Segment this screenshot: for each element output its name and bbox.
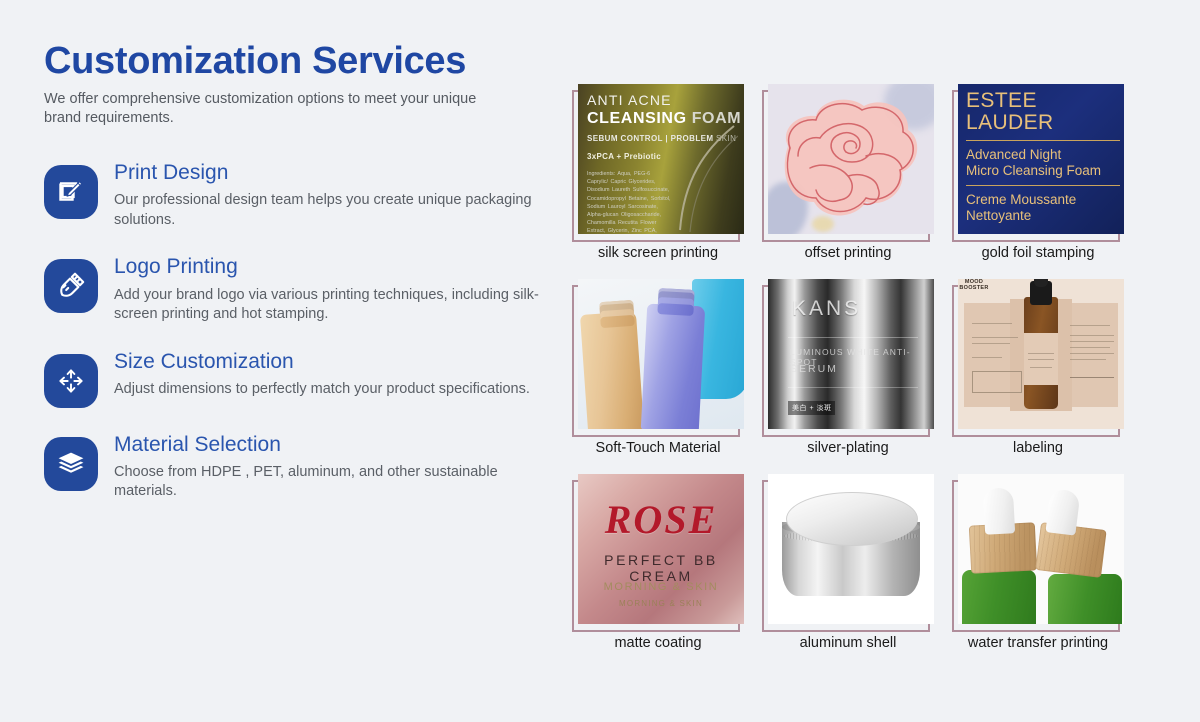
pen-ruler-icon <box>44 259 98 313</box>
thumbnail-wrapper: MOOD BOOSTER <box>952 279 1124 432</box>
thumbnail-wrapper <box>762 84 934 237</box>
label-rule-icon <box>972 343 1010 344</box>
gallery-item[interactable]: offset printing <box>755 84 941 279</box>
thumbnail-image-aluminum-shell[interactable] <box>768 474 934 624</box>
product-art-kans-metallic-bottle: KANS LUMINOUS WHITE ANTI-SPOT SERUM 美白 +… <box>768 279 934 429</box>
gallery-item[interactable]: ESTEE LAUDER Advanced Night Micro Cleans… <box>945 84 1131 279</box>
product-art-green-dropper-bottles <box>958 474 1124 624</box>
product-subtitle-2: SERUM <box>790 363 838 375</box>
brand-line-1: ESTEE <box>966 90 1120 112</box>
product-tagline-1: MORNING & SKIN <box>578 581 744 593</box>
divider-rule <box>788 337 918 338</box>
label-rule-icon <box>1070 377 1114 378</box>
label-rule-icon <box>972 357 1002 358</box>
gallery-caption: labeling <box>945 440 1131 457</box>
gallery-caption: aluminum shell <box>755 635 941 652</box>
product-art-cleansing-foam-tube: ANTI ACNE CLEANSING FOAM SEBUM CONTROL |… <box>578 84 744 234</box>
bottle-purple-icon <box>641 304 706 429</box>
divider-rule <box>966 185 1120 186</box>
bottle-green-right-icon <box>1048 574 1122 624</box>
page-subtitle: We offer comprehensive customization opt… <box>44 90 494 129</box>
customization-services-page: Customization Services We offer comprehe… <box>0 0 1200 722</box>
feature-description: Add your brand logo via various printing… <box>114 286 544 325</box>
feature-list: Print Design Our professional design tea… <box>44 159 544 502</box>
product-art-estee-lauder-carton: ESTEE LAUDER Advanced Night Micro Cleans… <box>958 84 1124 234</box>
bottle-amber-icon <box>580 311 644 429</box>
gallery-item[interactable]: MOOD BOOSTER labeling <box>945 279 1131 474</box>
label-rule-icon <box>972 323 1012 324</box>
gallery-item[interactable]: aluminum shell <box>755 474 941 669</box>
feature-item-size-customization[interactable]: Size Customization Adjust dimensions to … <box>44 348 544 408</box>
label-rule-icon <box>1070 359 1106 360</box>
gallery-caption: matte coating <box>565 635 751 652</box>
thumbnail-image-gold-foil-stamping[interactable]: ESTEE LAUDER Advanced Night Micro Cleans… <box>958 84 1124 234</box>
thumbnail-wrapper: ANTI ACNE CLEANSING FOAM SEBUM CONTROL |… <box>572 84 744 237</box>
technique-gallery-grid: ANTI ACNE CLEANSING FOAM SEBUM CONTROL |… <box>565 84 1131 669</box>
product-art-frosted-bottles <box>578 279 744 429</box>
label-rule-icon <box>1070 335 1114 336</box>
feature-title: Logo Printing <box>114 254 544 279</box>
pencil-square-icon <box>44 165 98 219</box>
feature-item-print-design[interactable]: Print Design Our professional design tea… <box>44 159 544 230</box>
thumbnail-wrapper <box>572 279 744 432</box>
thumbnail-image-matte-coating[interactable]: ROSE PERFECT BB CREAM MORNING & SKIN MOR… <box>578 474 744 624</box>
tube-highlight-curve-icon <box>664 124 738 232</box>
gallery-item[interactable]: Soft-Touch Material <box>565 279 751 474</box>
left-content-column: Customization Services We offer comprehe… <box>44 42 544 525</box>
feature-text-block: Print Design Our professional design tea… <box>114 159 544 230</box>
brand-name: KANS <box>792 297 861 321</box>
thumbnail-image-offset-printing[interactable] <box>768 84 934 234</box>
product-french-line-1: Creme Moussante <box>966 192 1120 208</box>
gallery-item[interactable]: ROSE PERFECT BB CREAM MORNING & SKIN MOR… <box>565 474 751 669</box>
label-box-icon <box>972 371 1022 393</box>
page-title: Customization Services <box>44 42 544 82</box>
stacked-layers-icon <box>44 437 98 491</box>
dropper-bulb-right-icon <box>1045 488 1080 535</box>
product-art-aluminum-tin-jar <box>768 474 934 624</box>
label-rule-icon <box>1028 353 1054 354</box>
product-subtitle: PERFECT BB CREAM <box>578 552 744 584</box>
thumbnail-image-silk-screen-printing[interactable]: ANTI ACNE CLEANSING FOAM SEBUM CONTROL |… <box>578 84 744 234</box>
brand-line-2: LAUDER <box>966 112 1120 134</box>
feature-description: Adjust dimensions to perfectly match you… <box>114 380 544 400</box>
label-rule-icon <box>1070 341 1114 342</box>
gallery-caption: silk screen printing <box>565 245 751 262</box>
four-arrows-resize-icon <box>44 354 98 408</box>
product-art-rose-line-illustration <box>768 84 934 234</box>
bottle-green-left-icon <box>962 570 1036 624</box>
product-art-rose-bb-cream: ROSE PERFECT BB CREAM MORNING & SKIN MOR… <box>578 474 744 624</box>
label-rule-icon <box>1070 353 1114 354</box>
product-subtitle-line-1: Advanced Night <box>966 147 1120 163</box>
thumbnail-wrapper: ROSE PERFECT BB CREAM MORNING & SKIN MOR… <box>572 474 744 627</box>
thumbnail-wrapper <box>762 474 934 627</box>
feature-item-logo-printing[interactable]: Logo Printing Add your brand logo via va… <box>44 253 544 324</box>
product-ingredients-text: Ingredients: Aqua, PEG-6 Caprylic/ Capri… <box>587 170 671 234</box>
label-rule-icon <box>1030 367 1052 368</box>
label-rule-icon <box>1028 359 1054 360</box>
label-rule-icon <box>972 337 1018 338</box>
bottle-neck-amber-icon <box>599 300 635 328</box>
feature-title: Material Selection <box>114 432 544 457</box>
gallery-caption: Soft-Touch Material <box>565 440 751 457</box>
gallery-item[interactable]: water transfer printing <box>945 474 1131 669</box>
feature-item-material-selection[interactable]: Material Selection Choose from HDPE , PE… <box>44 431 544 502</box>
gallery-caption: silver-plating <box>755 440 941 457</box>
divider-rule <box>966 140 1120 141</box>
dropper-bulb-left-icon <box>983 487 1015 535</box>
feature-title: Size Customization <box>114 349 544 374</box>
gallery-caption: offset printing <box>755 245 941 262</box>
label-title-text: MOOD BOOSTER <box>958 279 990 291</box>
product-french-line-2: Nettoyante <box>966 208 1120 224</box>
product-text-line4: 3xPCA + Prebiotic <box>587 152 661 161</box>
divider-rule <box>788 387 918 388</box>
feature-text-block: Logo Printing Add your brand logo via va… <box>114 253 544 324</box>
feature-title: Print Design <box>114 160 544 185</box>
feature-text-block: Material Selection Choose from HDPE , PE… <box>114 431 544 502</box>
carton-text-block: ESTEE LAUDER Advanced Night Micro Cleans… <box>966 90 1120 224</box>
feature-description: Our professional design team helps you c… <box>114 191 544 230</box>
brand-name: ROSE <box>578 500 744 540</box>
thumbnail-wrapper: KANS LUMINOUS WHITE ANTI-SPOT SERUM 美白 +… <box>762 279 934 432</box>
gallery-caption: gold foil stamping <box>945 245 1131 262</box>
thumbnail-wrapper: ESTEE LAUDER Advanced Night Micro Cleans… <box>952 84 1124 237</box>
product-badge-text: 美白 + 淡斑 <box>788 401 835 415</box>
thumbnail-image-water-transfer-printing[interactable] <box>958 474 1124 624</box>
feature-description: Choose from HDPE , PET, aluminum, and ot… <box>114 463 544 502</box>
thumbnail-image-labeling[interactable]: MOOD BOOSTER <box>958 279 1124 429</box>
jar-lid-icon <box>786 492 918 546</box>
label-rule-icon <box>1070 325 1110 326</box>
gallery-caption: water transfer printing <box>945 635 1131 652</box>
thumbnail-image-silver-plating[interactable]: KANS LUMINOUS WHITE ANTI-SPOT SERUM 美白 +… <box>768 279 934 429</box>
product-subtitle-line-2: Micro Cleansing Foam <box>966 163 1120 179</box>
gallery-item[interactable]: KANS LUMINOUS WHITE ANTI-SPOT SERUM 美白 +… <box>755 279 941 474</box>
label-rule-icon <box>1070 347 1110 348</box>
rose-flower-icon <box>770 86 930 232</box>
thumbnail-image-soft-touch-material[interactable] <box>578 279 744 429</box>
product-tagline-2: MORNING & SKIN <box>578 599 744 608</box>
thumbnail-wrapper <box>952 474 1124 627</box>
product-art-dropper-bottle-labels: MOOD BOOSTER <box>958 279 1124 429</box>
product-text-line1: ANTI ACNE <box>587 92 672 108</box>
feature-text-block: Size Customization Adjust dimensions to … <box>114 348 544 400</box>
gallery-item[interactable]: ANTI ACNE CLEANSING FOAM SEBUM CONTROL |… <box>565 84 751 279</box>
bottle-neck-purple-icon <box>657 288 694 316</box>
